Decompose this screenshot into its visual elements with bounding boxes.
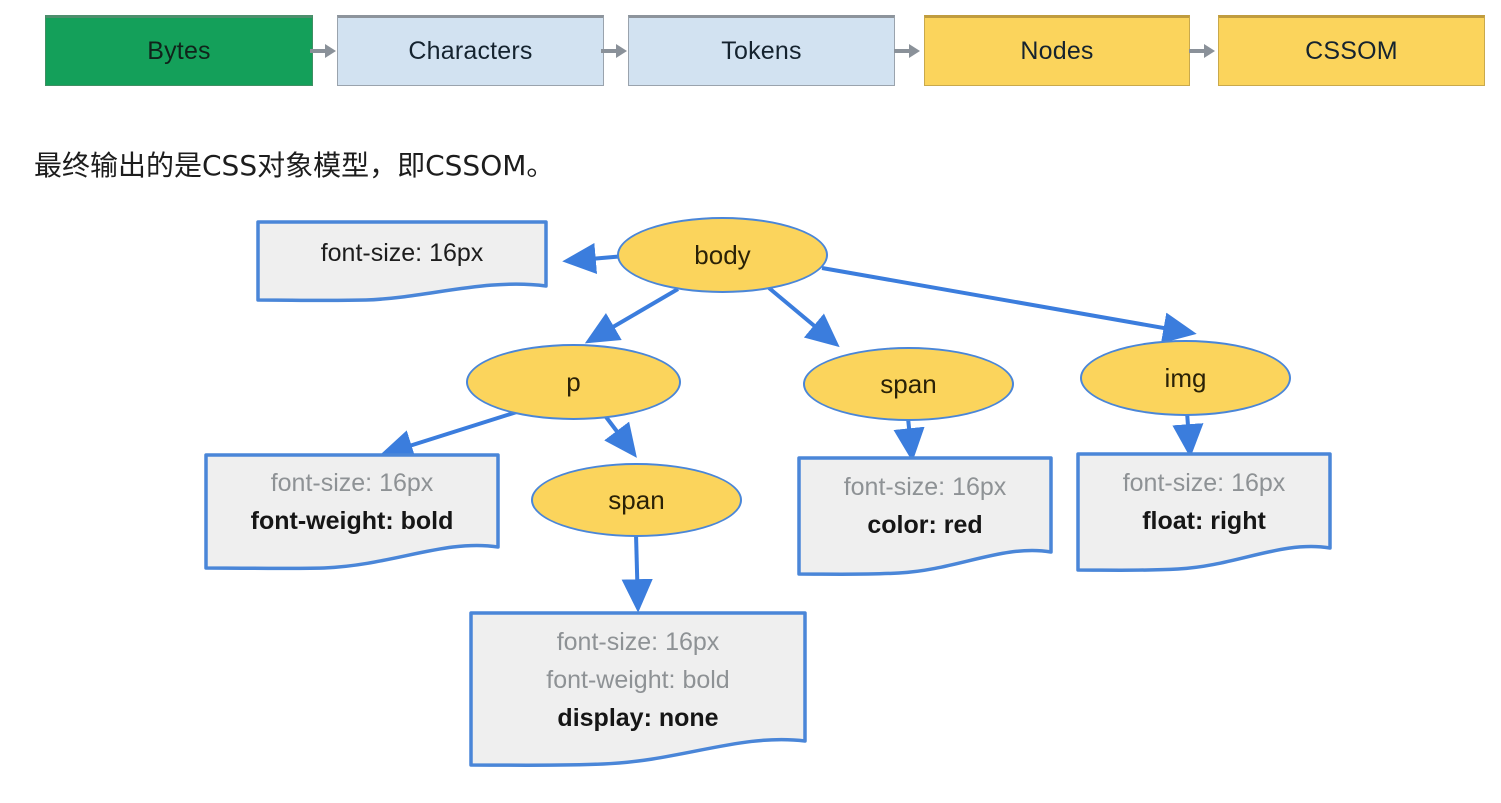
tree-node-span-body[interactable]: span [803, 347, 1014, 421]
note-line: float: right [1076, 502, 1332, 540]
note-text: font-size: 16px font-weight: bold displa… [469, 623, 807, 737]
note-line: font-weight: bold [204, 502, 500, 540]
tree-node-label: p [566, 367, 580, 398]
note-line: font-size: 16px [204, 464, 500, 502]
tree-note-body[interactable]: font-size: 16px [256, 220, 548, 302]
tree-note-p[interactable]: font-size: 16px font-weight: bold [204, 453, 500, 571]
tree-node-label: img [1165, 363, 1207, 394]
note-text: font-size: 16px [256, 234, 548, 272]
note-text: font-size: 16px color: red [797, 468, 1053, 544]
note-line: color: red [797, 506, 1053, 544]
tree-note-img[interactable]: font-size: 16px float: right [1076, 452, 1332, 572]
tree-node-p[interactable]: p [466, 344, 681, 420]
note-text: font-size: 16px font-weight: bold [204, 464, 500, 540]
note-line: font-size: 16px [256, 234, 548, 272]
tree-node-label: body [694, 240, 750, 271]
tree-node-label: span [608, 485, 664, 516]
tree-note-span-body[interactable]: font-size: 16px color: red [797, 456, 1053, 576]
tree-node-span-inner[interactable]: span [531, 463, 742, 537]
note-line: font-size: 16px [1076, 464, 1332, 502]
cssom-tree: body p span span img font-size: 16px fon… [0, 0, 1501, 803]
note-text: font-size: 16px float: right [1076, 464, 1332, 540]
tree-node-label: span [880, 369, 936, 400]
note-line: font-weight: bold [469, 661, 807, 699]
tree-node-img[interactable]: img [1080, 340, 1291, 416]
tree-note-span-inner[interactable]: font-size: 16px font-weight: bold displa… [469, 611, 807, 768]
note-line: font-size: 16px [469, 623, 807, 661]
note-line: display: none [469, 699, 807, 737]
note-line: font-size: 16px [797, 468, 1053, 506]
tree-node-body[interactable]: body [617, 217, 828, 293]
